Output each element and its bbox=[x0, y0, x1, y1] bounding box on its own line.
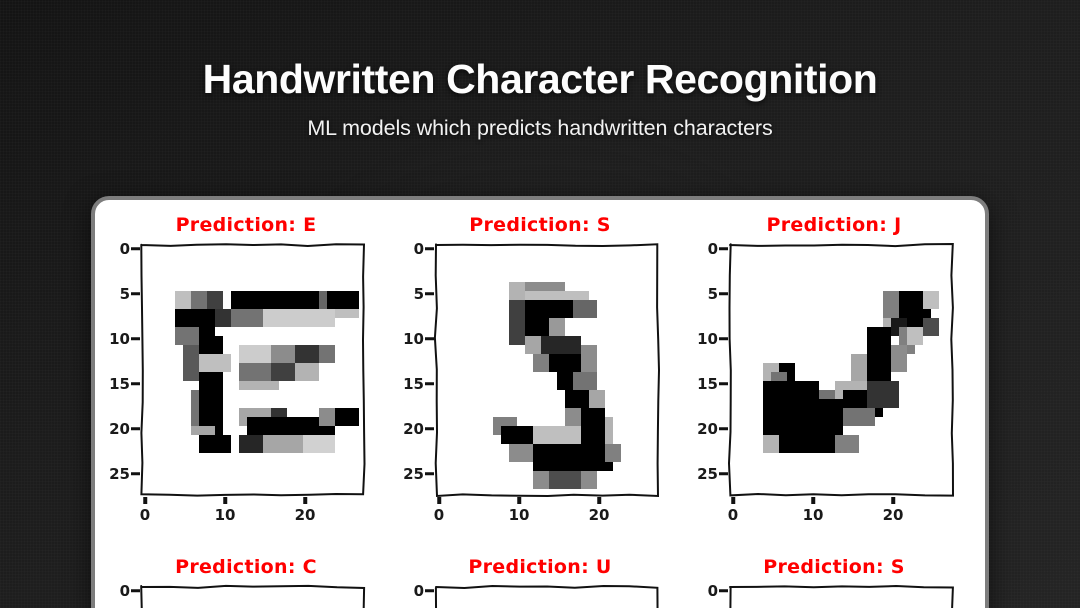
y-axis-tick-mark bbox=[719, 247, 728, 251]
prediction-label: Prediction: S bbox=[687, 556, 981, 578]
character-image-axes: 051015202501020 bbox=[729, 586, 953, 608]
character-image-axes: 051015202501020 bbox=[435, 586, 659, 608]
y-axis-tick-mark bbox=[425, 337, 434, 341]
x-axis-tick-mark bbox=[517, 497, 521, 504]
x-axis-tick-label: 20 bbox=[295, 506, 316, 524]
prediction-label: Prediction: J bbox=[687, 214, 981, 236]
y-axis-tick-mark bbox=[425, 472, 434, 476]
y-axis-tick-mark bbox=[425, 292, 434, 296]
y-axis-tick-mark bbox=[719, 472, 728, 476]
prediction-plot-grid: Prediction: E051015202501020Prediction: … bbox=[95, 200, 985, 608]
character-image-axes: 051015202501020 bbox=[141, 586, 365, 608]
prediction-panel-5: Prediction: U051015202501020 bbox=[393, 550, 687, 608]
prediction-panel-3: Prediction: J051015202501020 bbox=[687, 208, 981, 550]
x-axis-tick-mark bbox=[437, 497, 441, 504]
x-axis-tick-label: 10 bbox=[215, 506, 236, 524]
axes-frame bbox=[435, 244, 659, 496]
x-axis-tick-mark bbox=[223, 497, 227, 504]
x-axis-tick-label: 20 bbox=[883, 506, 904, 524]
x-axis-tick-label: 0 bbox=[140, 506, 150, 524]
prediction-label: Prediction: U bbox=[393, 556, 687, 578]
x-axis-tick-mark bbox=[597, 497, 601, 504]
y-axis-tick-mark bbox=[719, 337, 728, 341]
y-axis-tick-mark bbox=[131, 589, 140, 593]
y-axis-tick-mark bbox=[719, 427, 728, 431]
y-axis-tick-mark bbox=[425, 382, 434, 386]
page-title: Handwritten Character Recognition bbox=[0, 58, 1080, 101]
prediction-label: Prediction: E bbox=[99, 214, 393, 236]
x-axis-tick-mark bbox=[143, 497, 147, 504]
page-subtitle: ML models which predicts handwritten cha… bbox=[0, 116, 1080, 141]
y-axis-tick-mark bbox=[425, 247, 434, 251]
character-image-axes: 051015202501020 bbox=[141, 244, 365, 496]
prediction-panel-6: Prediction: S051015202501020 bbox=[687, 550, 981, 608]
prediction-label: Prediction: C bbox=[99, 556, 393, 578]
x-axis-tick-label: 10 bbox=[509, 506, 530, 524]
y-axis-tick-mark bbox=[131, 382, 140, 386]
y-axis-tick-mark bbox=[425, 427, 434, 431]
x-axis-tick-mark bbox=[731, 497, 735, 504]
character-image-axes: 051015202501020 bbox=[729, 244, 953, 496]
y-axis-tick-mark bbox=[131, 292, 140, 296]
x-axis-tick-mark bbox=[891, 497, 895, 504]
x-axis-tick-label: 20 bbox=[589, 506, 610, 524]
y-axis-tick-mark bbox=[719, 382, 728, 386]
x-axis-tick-label: 10 bbox=[803, 506, 824, 524]
y-axis-tick-mark bbox=[131, 247, 140, 251]
prediction-panel-2: Prediction: S051015202501020 bbox=[393, 208, 687, 550]
x-axis-tick-mark bbox=[303, 497, 307, 504]
axes-frame bbox=[729, 244, 953, 496]
y-axis-tick-mark bbox=[131, 472, 140, 476]
character-image-axes: 051015202501020 bbox=[435, 244, 659, 496]
axes-frame bbox=[141, 244, 365, 496]
axes-frame bbox=[141, 586, 365, 608]
prediction-panel-4: Prediction: C051015202501020 bbox=[99, 550, 393, 608]
page-header: Handwritten Character Recognition ML mod… bbox=[0, 0, 1080, 141]
y-axis-tick-mark bbox=[131, 427, 140, 431]
x-axis-tick-mark bbox=[811, 497, 815, 504]
prediction-label: Prediction: S bbox=[393, 214, 687, 236]
x-axis-tick-label: 0 bbox=[728, 506, 738, 524]
results-card: Prediction: E051015202501020Prediction: … bbox=[91, 196, 989, 608]
axes-frame bbox=[435, 586, 659, 608]
prediction-panel-1: Prediction: E051015202501020 bbox=[99, 208, 393, 550]
axes-frame bbox=[729, 586, 953, 608]
y-axis-tick-mark bbox=[719, 589, 728, 593]
y-axis-tick-mark bbox=[425, 589, 434, 593]
y-axis-tick-mark bbox=[719, 292, 728, 296]
y-axis-tick-mark bbox=[131, 337, 140, 341]
x-axis-tick-label: 0 bbox=[434, 506, 444, 524]
